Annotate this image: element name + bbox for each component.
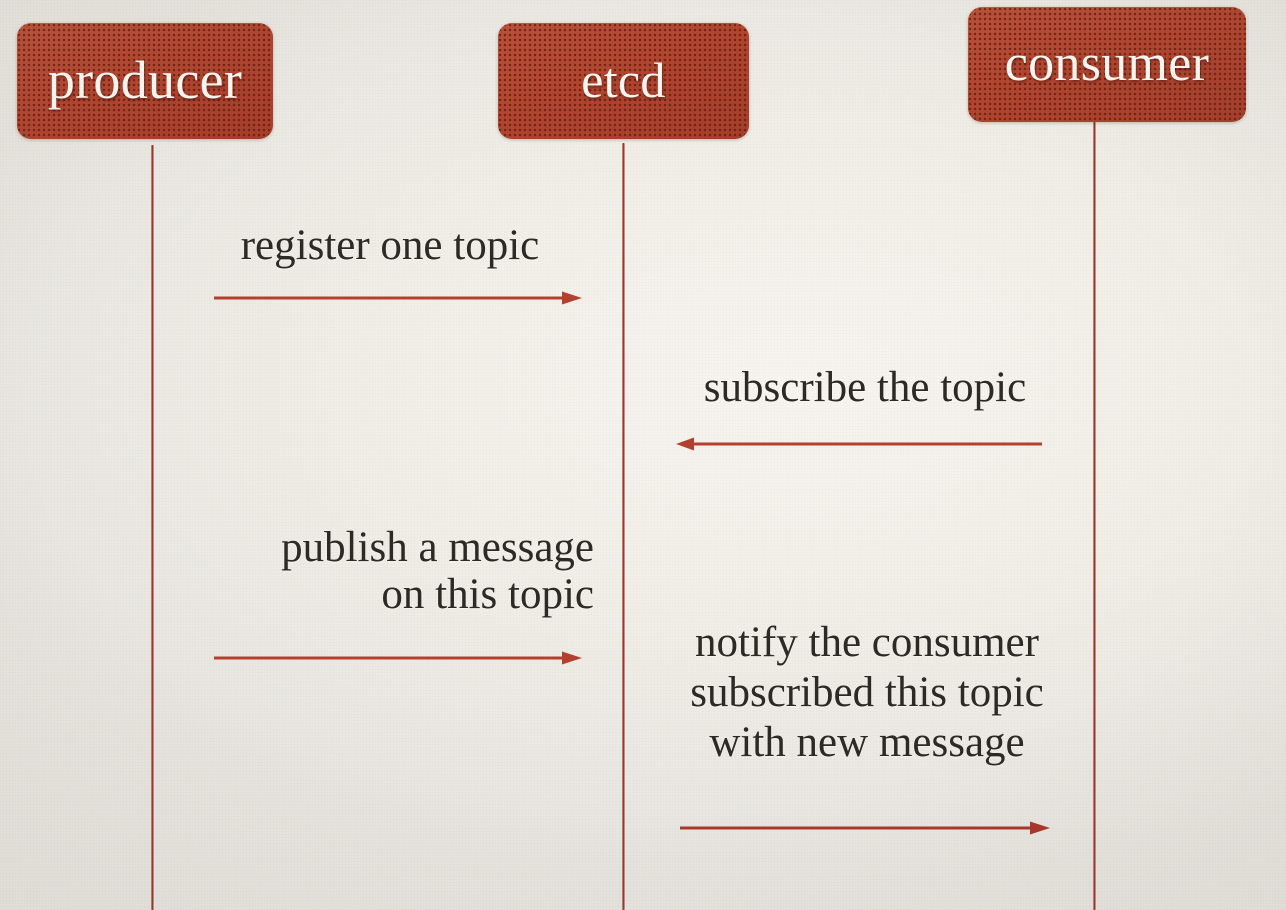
message-label-publish-a-message-on-this-topic: publish a message on this topic: [150, 524, 594, 619]
sequence-diagram-canvas: producer etcd consumer register one topi…: [0, 0, 1286, 910]
message-line: register one topic: [160, 222, 620, 269]
message-line: notify the consumer: [634, 618, 1100, 668]
message-line: subscribe the topic: [640, 364, 1090, 411]
message-arrow-subscribe-the-topic: [676, 437, 1042, 451]
message-label-register-one-topic: register one topic: [160, 222, 620, 269]
participant-label-producer: producer: [48, 53, 242, 107]
message-line: publish a message: [150, 524, 594, 571]
participant-box-etcd[interactable]: etcd: [498, 23, 749, 139]
participant-box-producer[interactable]: producer: [17, 23, 273, 139]
message-line: on this topic: [150, 571, 594, 618]
message-label-subscribe-the-topic: subscribe the topic: [640, 364, 1090, 411]
message-arrow-publish-a-message: [214, 651, 582, 665]
message-arrow-register-one-topic: [214, 291, 582, 305]
lifeline-etcd: [622, 143, 625, 910]
participant-label-etcd: etcd: [581, 55, 665, 105]
message-arrow-notify-the-consumer: [680, 821, 1050, 835]
participant-box-consumer[interactable]: consumer: [968, 7, 1246, 122]
message-label-notify-the-consumer: notify the consumer subscribed this topi…: [634, 618, 1100, 768]
message-line: subscribed this topic: [634, 668, 1100, 718]
participant-label-consumer: consumer: [1005, 38, 1210, 90]
message-line: with new message: [634, 718, 1100, 768]
lifeline-consumer: [1093, 122, 1096, 910]
